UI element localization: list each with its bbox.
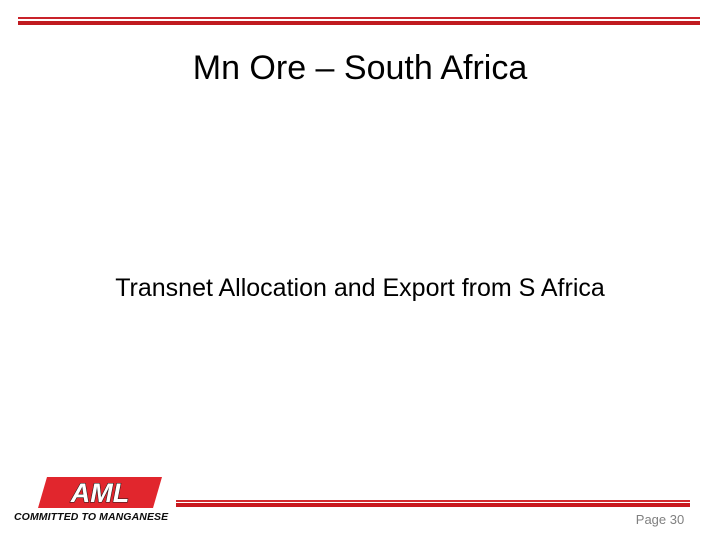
- slide-canvas: Mn Ore – South Africa Transnet Allocatio…: [0, 0, 720, 540]
- svg-text:AML: AML: [70, 478, 129, 508]
- body-line-1: Transnet Allocation and Export from S Af…: [22, 272, 698, 304]
- slide-body: Transnet Allocation and Export from S Af…: [22, 272, 698, 304]
- top-divider-rule: [18, 17, 700, 26]
- footer-rule-thick-line: [176, 503, 690, 507]
- top-rule-thick-line: [18, 21, 700, 25]
- aml-logo-mark-icon: AML: [38, 477, 162, 508]
- page-number: Page 30: [620, 512, 700, 528]
- footer-divider-rule: [176, 500, 690, 507]
- aml-logo-tagline: COMMITTED TO MANGANESE: [14, 510, 174, 524]
- aml-logo: AML COMMITTED TO MANGANESE: [14, 477, 174, 529]
- slide-title: Mn Ore – South Africa: [40, 47, 680, 89]
